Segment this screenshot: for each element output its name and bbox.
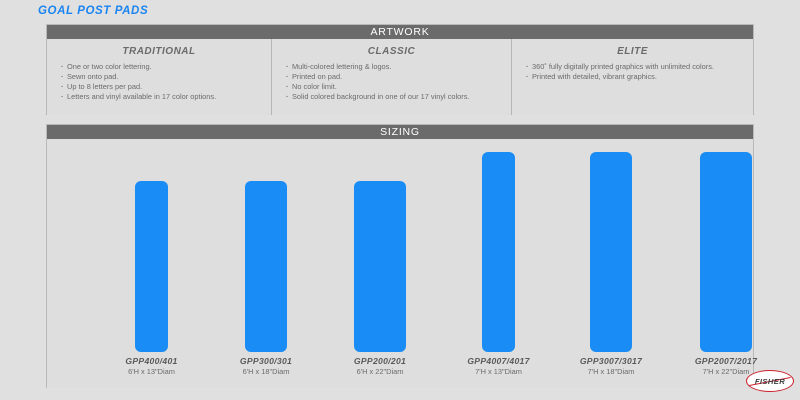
artwork-column-traditional: TRADITIONAL One or two color lettering. … bbox=[47, 39, 271, 115]
list-item: Printed on pad. bbox=[286, 72, 503, 82]
artwork-column-elite: ELITE 360˚ fully digitally printed graph… bbox=[511, 39, 753, 115]
artwork-panel: ARTWORK TRADITIONAL One or two color let… bbox=[46, 24, 754, 115]
bar-label-block: GPP3007/30177'H x 18"Diam bbox=[580, 352, 642, 377]
bar-group: GPP3007/30177'H x 18"Diam bbox=[590, 152, 632, 352]
bar-code-label: GPP400/401 bbox=[125, 356, 177, 367]
list-item: Printed with detailed, vibrant graphics. bbox=[526, 72, 745, 82]
artwork-bullet-list: One or two color lettering. Sewn onto pa… bbox=[55, 62, 263, 102]
bar-label-block: GPP400/4016'H x 13"Diam bbox=[125, 352, 177, 377]
bar-code-label: GPP300/301 bbox=[240, 356, 292, 367]
artwork-column-title: TRADITIONAL bbox=[55, 46, 263, 57]
list-item: 360˚ fully digitally printed graphics wi… bbox=[526, 62, 745, 72]
list-item: Letters and vinyl available in 17 color … bbox=[61, 92, 263, 102]
artwork-column-classic: CLASSIC Multi-colored lettering & logos.… bbox=[271, 39, 511, 115]
artwork-column-title: CLASSIC bbox=[280, 46, 503, 57]
bar-group: GPP2007/20177'H x 22"Diam bbox=[700, 152, 752, 352]
bar-dimension-label: 6'H x 13"Diam bbox=[125, 367, 177, 377]
list-item: Up to 8 letters per pad. bbox=[61, 82, 263, 92]
bar-group: GPP400/4016'H x 13"Diam bbox=[135, 181, 168, 352]
bar-code-label: GPP4007/4017 bbox=[467, 356, 529, 367]
sizing-header: SIZING bbox=[47, 125, 753, 139]
sizing-panel: SIZING GPP400/4016'H x 13"DiamGPP300/301… bbox=[46, 124, 754, 388]
bar bbox=[482, 152, 515, 352]
bar-code-label: GPP3007/3017 bbox=[580, 356, 642, 367]
artwork-bullet-list: 360˚ fully digitally printed graphics wi… bbox=[520, 62, 745, 82]
list-item: Sewn onto pad. bbox=[61, 72, 263, 82]
fisher-logo: FISHER bbox=[746, 370, 794, 392]
bar bbox=[354, 181, 406, 352]
bar-group: GPP4007/40177'H x 13"Diam bbox=[482, 152, 515, 352]
list-item: Multi-colored lettering & logos. bbox=[286, 62, 503, 72]
artwork-bullet-list: Multi-colored lettering & logos. Printed… bbox=[280, 62, 503, 102]
bar-group: GPP200/2016'H x 22"Diam bbox=[354, 181, 406, 352]
logo-wordmark: FISHER bbox=[746, 370, 794, 392]
list-item: No color limit. bbox=[286, 82, 503, 92]
bar bbox=[245, 181, 287, 352]
artwork-columns: TRADITIONAL One or two color lettering. … bbox=[47, 39, 753, 115]
bar bbox=[135, 181, 168, 352]
bar-dimension-label: 7'H x 13"Diam bbox=[467, 367, 529, 377]
bar-dimension-label: 6'H x 22"Diam bbox=[354, 367, 406, 377]
bar-code-label: GPP200/201 bbox=[354, 356, 406, 367]
bar-group: GPP300/3016'H x 18"Diam bbox=[245, 181, 287, 352]
list-item: Solid colored background in one of our 1… bbox=[286, 92, 503, 102]
artwork-column-title: ELITE bbox=[520, 46, 745, 57]
bar-dimension-label: 6'H x 18"Diam bbox=[240, 367, 292, 377]
bar-label-block: GPP200/2016'H x 22"Diam bbox=[354, 352, 406, 377]
page-title: GOAL POST PADS bbox=[38, 5, 148, 17]
bar-dimension-label: 7'H x 18"Diam bbox=[580, 367, 642, 377]
bar bbox=[590, 152, 632, 352]
sizing-bar-chart: GPP400/4016'H x 13"DiamGPP300/3016'H x 1… bbox=[47, 139, 753, 388]
bar-label-block: GPP300/3016'H x 18"Diam bbox=[240, 352, 292, 377]
bar-label-block: GPP4007/40177'H x 13"Diam bbox=[467, 352, 529, 377]
artwork-header: ARTWORK bbox=[47, 25, 753, 39]
list-item: One or two color lettering. bbox=[61, 62, 263, 72]
bar-code-label: GPP2007/2017 bbox=[695, 356, 757, 367]
bar bbox=[700, 152, 752, 352]
